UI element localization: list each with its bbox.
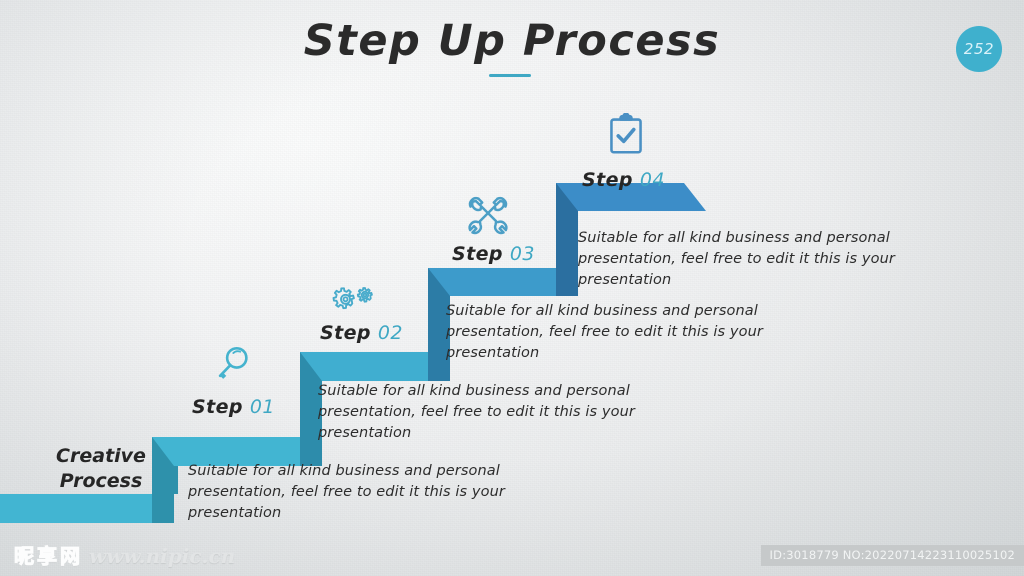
magnifier-icon <box>214 343 256 385</box>
title-underline <box>489 74 531 77</box>
step-label-04-text: Step <box>582 169 633 191</box>
page-title: Step Up Process <box>0 16 1024 66</box>
step-number-02: 02 <box>378 322 403 344</box>
stair-step4-riser-lower <box>556 211 578 296</box>
crossed-wrenches-icon <box>466 193 510 237</box>
stair-base-tread <box>0 494 174 523</box>
stair-step2-tread <box>300 352 450 381</box>
slide-canvas: Step Up Process 252 Creative Process <box>0 0 1024 576</box>
creative-process-line1: Creative <box>36 444 166 469</box>
site-watermark: 昵 享 网 www.nipic.cn <box>14 544 235 568</box>
watermark-char-1: 昵 <box>14 545 34 567</box>
step-body-01: Suitable for all kind business and perso… <box>188 461 518 524</box>
step-label-02-text: Step <box>320 322 371 344</box>
step-label-01: Step01 <box>192 396 275 418</box>
step-body-03: Suitable for all kind business and perso… <box>446 301 776 364</box>
stair-step4-riser <box>556 183 578 268</box>
step-number-04: 04 <box>640 169 665 191</box>
step-label-01-text: Step <box>192 396 243 418</box>
step-label-04: Step04 <box>582 169 665 191</box>
step-label-02: Step02 <box>320 322 403 344</box>
watermark-url: www.nipic.cn <box>89 544 235 568</box>
clipboard-check-icon <box>606 113 646 157</box>
image-id-bar: ID:3018779 NO:20220714223110025102 <box>761 545 1024 566</box>
step-body-02: Suitable for all kind business and perso… <box>318 381 648 444</box>
step-number-01: 01 <box>250 396 275 418</box>
gears-icon <box>330 283 378 317</box>
page-number-badge: 252 <box>956 26 1002 72</box>
step-body-04: Suitable for all kind business and perso… <box>578 228 918 291</box>
step-label-03-text: Step <box>452 243 503 265</box>
watermark-char-2: 享 <box>37 545 57 567</box>
creative-process-label: Creative Process <box>36 444 166 494</box>
stair-step3-tread <box>428 268 578 296</box>
watermark-logo-cn: 昵 享 网 <box>14 545 80 567</box>
step-number-03: 03 <box>510 243 535 265</box>
step-label-03: Step03 <box>452 243 535 265</box>
creative-process-line2: Process <box>36 469 166 494</box>
watermark-char-3: 网 <box>60 545 80 567</box>
